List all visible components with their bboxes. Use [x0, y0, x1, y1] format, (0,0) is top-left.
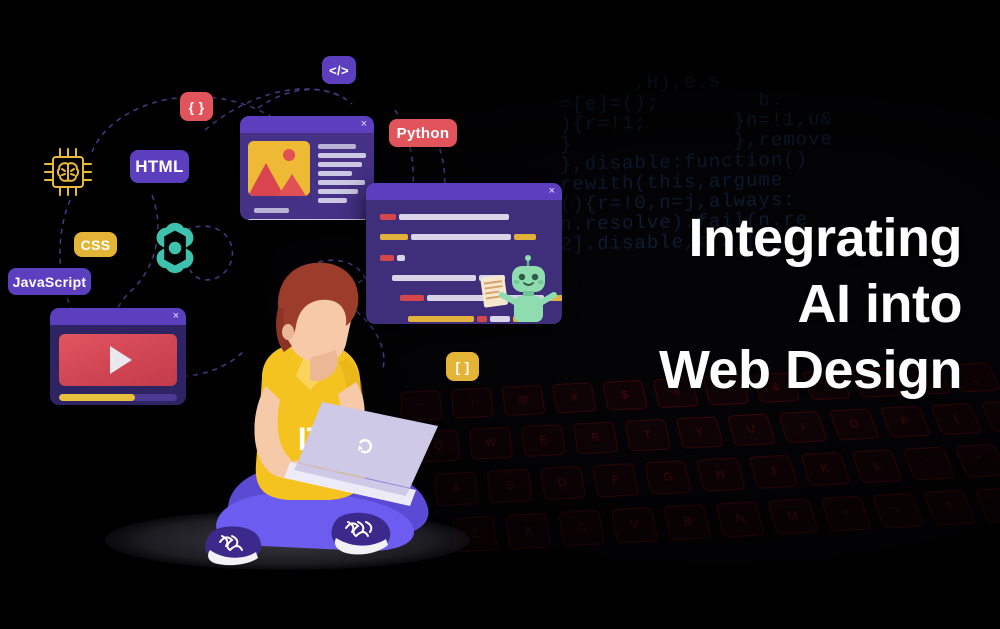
badge-brackets[interactable]: [ ] — [446, 352, 479, 381]
text-line — [318, 153, 366, 158]
text-line — [318, 189, 358, 194]
play-icon[interactable] — [110, 346, 132, 374]
poster-canvas: ,H),e.s =[e]=(); b. ){r=!1; }n=!1,u& } }… — [0, 0, 1000, 629]
headline-line-3: Web Design — [442, 337, 962, 403]
text-line — [318, 162, 362, 167]
person-illustration: IT — [170, 250, 470, 580]
video-screen[interactable] — [59, 334, 177, 386]
badge-code-tag[interactable]: </> — [322, 56, 356, 84]
badge-css[interactable]: CSS — [74, 232, 117, 257]
ai-brain-chip-icon[interactable] — [40, 144, 96, 200]
video-player-titlebar: × — [50, 308, 186, 325]
shoe-right — [332, 513, 391, 555]
text-line — [318, 198, 347, 203]
video-progress-fill — [59, 394, 135, 401]
robot-assistant-icon — [472, 250, 558, 324]
browser-window-titlebar: × — [240, 116, 374, 133]
code-line — [380, 228, 552, 246]
close-icon[interactable]: × — [549, 186, 555, 197]
badge-html[interactable]: HTML — [130, 150, 189, 183]
browser-window[interactable]: × — [240, 116, 374, 220]
text-line — [318, 180, 365, 185]
badge-python[interactable]: Python — [389, 119, 457, 147]
code-token — [380, 214, 396, 220]
text-line — [318, 144, 356, 149]
video-progress-bar[interactable] — [59, 394, 177, 401]
image-placeholder-art — [248, 141, 310, 196]
code-line — [380, 208, 552, 226]
image-placeholder — [248, 141, 310, 196]
browser-window-body — [240, 133, 374, 220]
text-line — [254, 208, 289, 213]
code-token — [380, 234, 408, 240]
text-line — [248, 219, 366, 220]
video-player-body — [50, 325, 186, 405]
code-token — [514, 234, 536, 240]
badge-braces[interactable]: { } — [180, 92, 213, 121]
shoe-left — [205, 526, 261, 565]
badge-javascript[interactable]: JavaScript — [8, 268, 91, 295]
text-line — [318, 171, 352, 176]
code-editor-titlebar: × — [366, 183, 562, 200]
close-icon[interactable]: × — [361, 119, 367, 130]
code-token — [399, 214, 509, 220]
video-player-window[interactable]: × — [50, 308, 186, 405]
code-token — [411, 234, 511, 240]
